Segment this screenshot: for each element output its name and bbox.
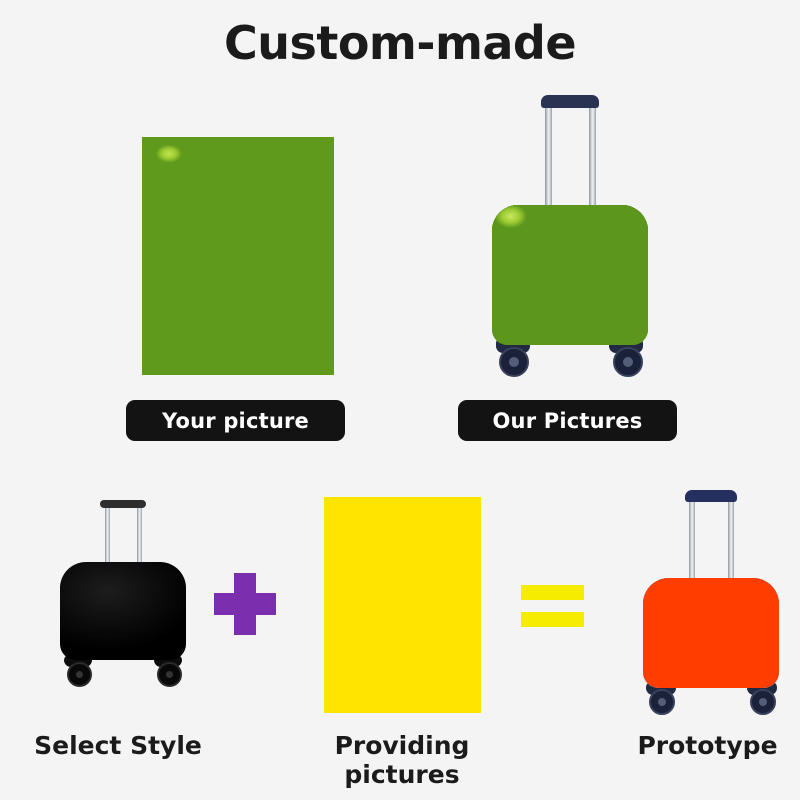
rainbow-suitcase-handle-post-right — [728, 499, 734, 583]
badge-your-picture: Your picture — [126, 400, 345, 441]
equals-icon — [521, 585, 584, 627]
rainbow-suitcase-handle-grip — [685, 490, 737, 502]
black-suitcase-wheel-left — [67, 662, 92, 687]
select-style-black-suitcase — [58, 500, 188, 685]
black-suitcase-handle-post-right — [137, 506, 142, 568]
suitcase-body — [492, 205, 648, 345]
our-pictures-suitcase — [490, 95, 650, 380]
plus-icon-vertical-bar — [234, 573, 256, 635]
suitcase-wheel-left — [499, 347, 529, 377]
suitcase-wheel-right — [613, 347, 643, 377]
rainbow-suitcase-body — [643, 578, 779, 688]
black-suitcase-body — [60, 562, 186, 660]
page-title: Custom-made — [0, 16, 800, 70]
infographic-page: Custom-made Your picture Our Pictures — [0, 0, 800, 800]
equals-icon-bottom-bar — [521, 612, 584, 627]
providing-pictures-photo — [324, 497, 481, 713]
caption-select-style: Select Style — [18, 731, 218, 760]
rainbow-suitcase-wheel-right — [750, 689, 776, 715]
caption-prototype: Prototype — [620, 731, 795, 760]
suitcase-cover-pattern-rainbow — [643, 578, 779, 688]
plus-icon — [214, 573, 276, 635]
prototype-rainbow-suitcase — [641, 490, 781, 712]
equals-icon-top-bar — [521, 585, 584, 600]
badge-our-pictures: Our Pictures — [458, 400, 677, 441]
rainbow-suitcase-wheel-left — [649, 689, 675, 715]
suitcase-cover-pattern-beans — [492, 205, 648, 345]
suitcase-handle-post-left — [545, 105, 552, 210]
your-picture-photo — [142, 137, 334, 375]
caption-providing-pictures: Providing pictures — [288, 731, 516, 789]
rainbow-suitcase-handle-post-left — [689, 499, 695, 583]
black-suitcase-handle-post-left — [105, 506, 110, 568]
suitcase-handle-post-right — [589, 105, 596, 210]
black-suitcase-wheel-right — [157, 662, 182, 687]
black-suitcase-handle-grip — [100, 500, 146, 508]
suitcase-handle-grip — [541, 95, 599, 108]
